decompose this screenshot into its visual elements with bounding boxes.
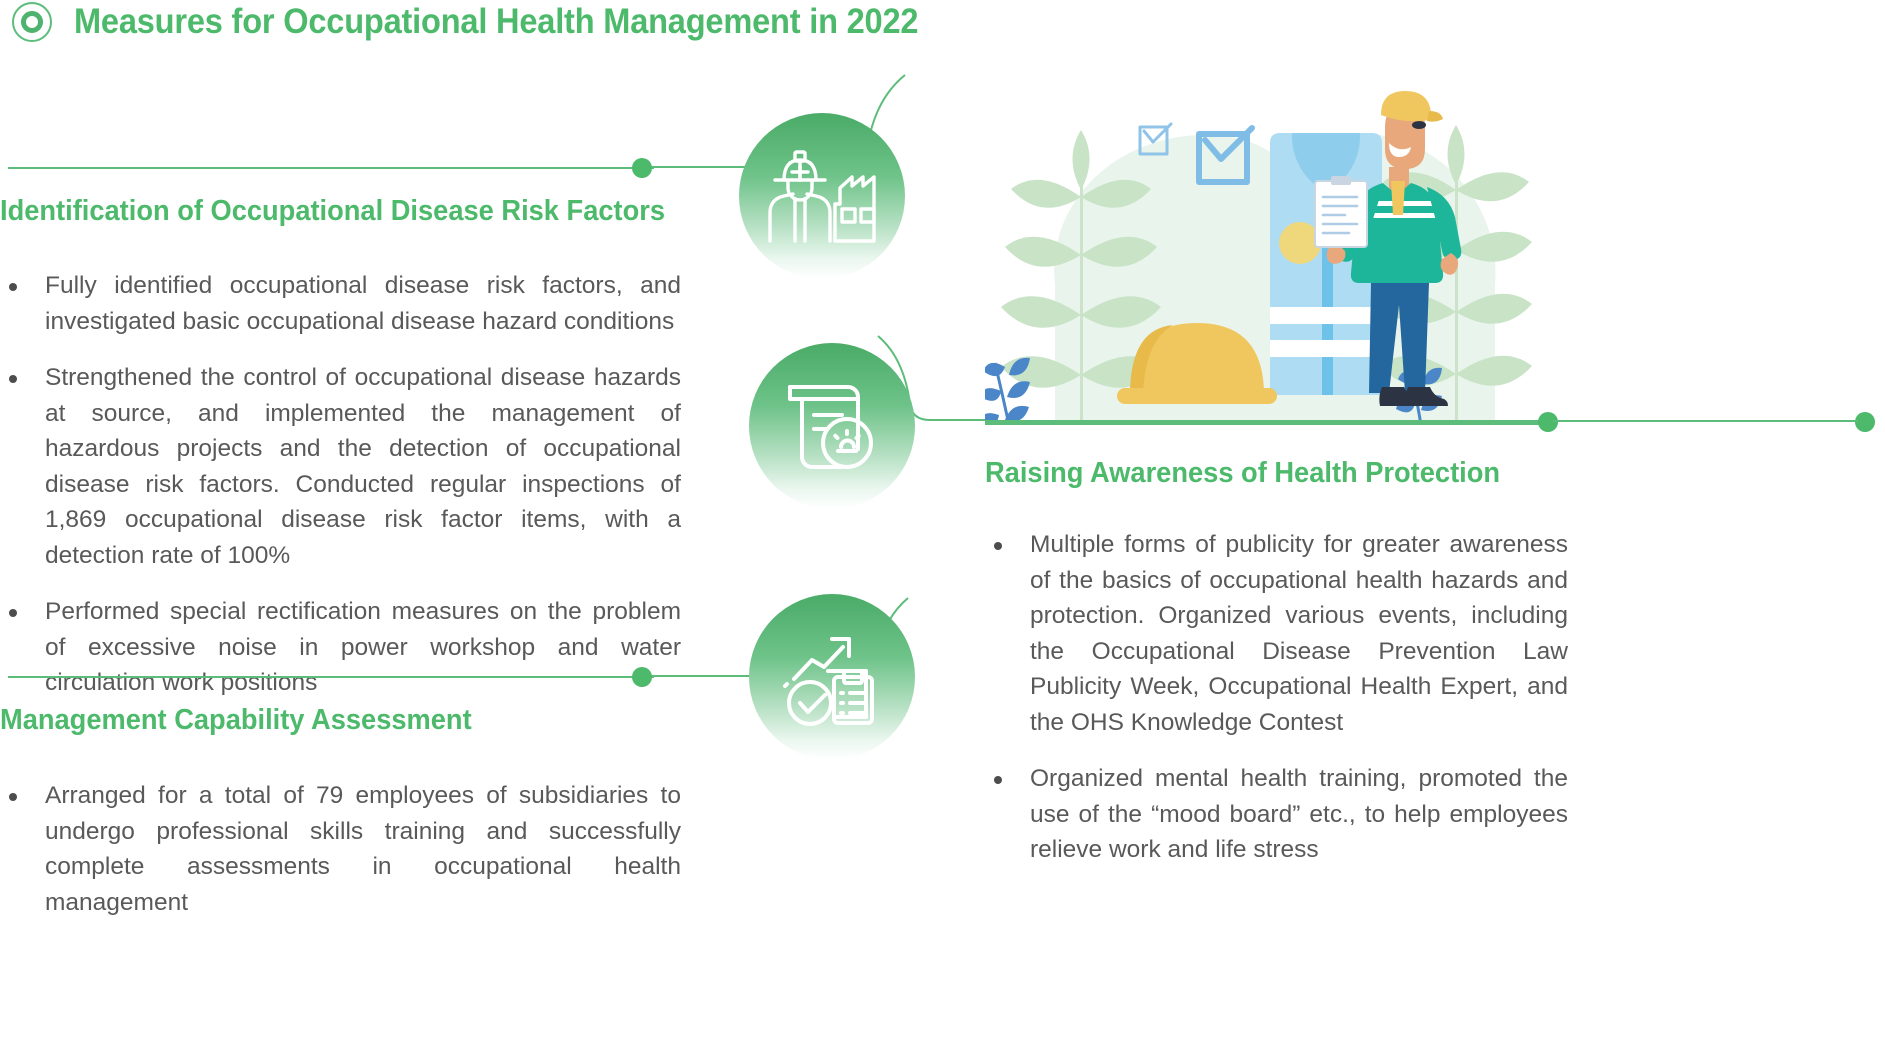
section-divider-2: [8, 676, 654, 678]
badge-worker-factory: [739, 113, 905, 279]
illustration-svg: [985, 75, 1555, 425]
ground-line: [985, 422, 1555, 425]
bullet-list-management-capability: Arranged for a total of 79 employees of …: [0, 778, 681, 920]
document-alert-icon: [784, 377, 880, 475]
section-dot-3: [1538, 412, 1558, 432]
list-item: Organized mental health training, promot…: [985, 761, 1568, 868]
growth-checklist-icon: [780, 627, 884, 727]
section-dot-1: [632, 158, 652, 178]
section-heading-raising-awareness: Raising Awareness of Health Protection: [985, 457, 1500, 490]
clipboard: [1315, 176, 1367, 247]
page-title-row: Measures for Occupational Health Managem…: [12, 2, 982, 42]
page-title: Measures for Occupational Health Managem…: [74, 2, 918, 42]
section-divider-3: [985, 420, 1553, 422]
badge-document-alert: [749, 343, 915, 509]
list-item: Performed special rectification measures…: [0, 594, 681, 701]
right-edge-dot: [1855, 412, 1875, 432]
bullet-list-identification: Fully identified occupational disease ri…: [0, 268, 681, 701]
list-item: Arranged for a total of 79 employees of …: [0, 778, 681, 920]
list-item: Multiple forms of publicity for greater …: [985, 527, 1568, 740]
list-item: Fully identified occupational disease ri…: [0, 268, 681, 339]
section-dot-2: [632, 667, 652, 687]
infographic-page: Measures for Occupational Health Managem…: [0, 0, 1885, 1051]
bullet-list-raising-awareness: Multiple forms of publicity for greater …: [985, 527, 1568, 868]
worker-safety-vest-illustration: [985, 75, 1555, 425]
badge-growth-checklist: [749, 594, 915, 760]
section-heading-identification: Identification of Occupational Disease R…: [0, 195, 665, 228]
worker-factory-icon: [762, 147, 882, 245]
section-heading-management-capability: Management Capability Assessment: [0, 704, 472, 737]
target-circle-icon: [12, 2, 52, 42]
right-edge-rule: [1553, 420, 1858, 422]
section-divider-1: [8, 167, 654, 169]
list-item: Strengthened the control of occupational…: [0, 360, 681, 573]
